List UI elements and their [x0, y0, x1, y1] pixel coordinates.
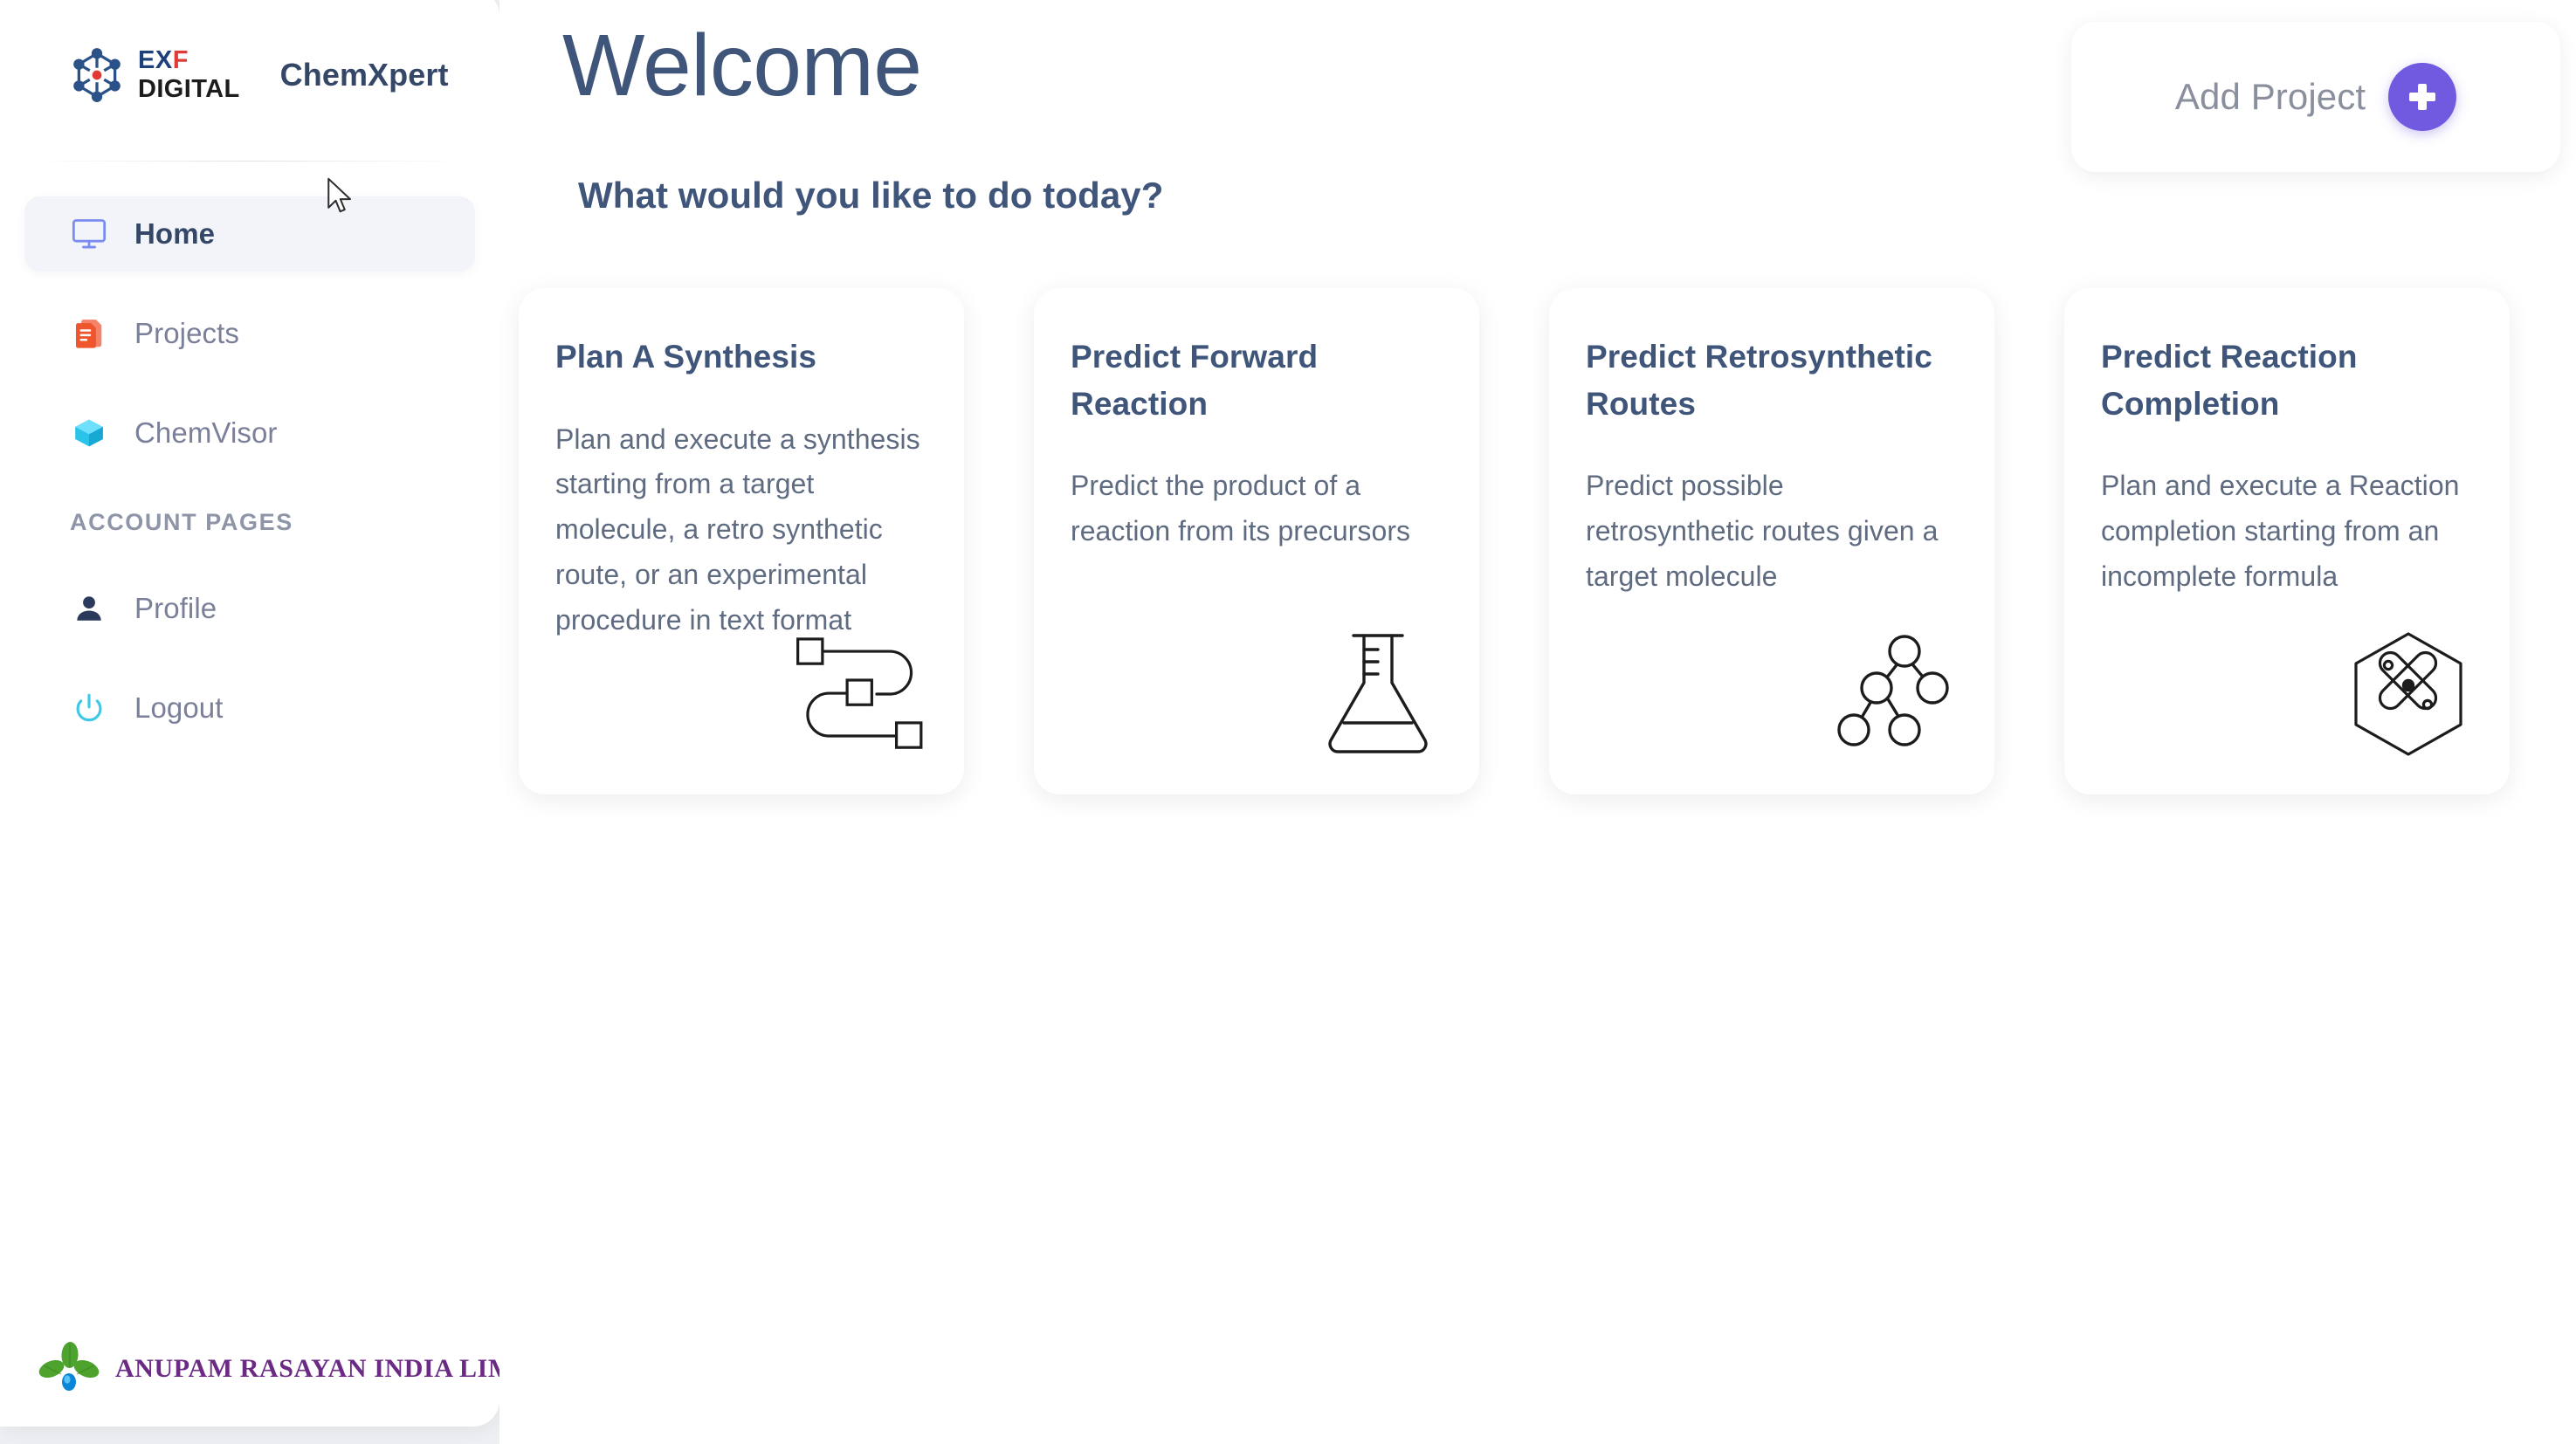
card-predict-reaction-completion[interactable]: Predict Reaction Completion Plan and exe…: [2064, 288, 2510, 794]
cube-3d-icon: [70, 414, 108, 452]
card-title: Plan A Synthesis: [555, 333, 927, 381]
sidebar-item-profile-label: Profile: [134, 592, 217, 625]
plus-icon: [2407, 82, 2437, 112]
brand-logo-top-text: EX: [138, 46, 173, 74]
card-title: Predict Forward Reaction: [1071, 333, 1443, 427]
brand-logo-bottom-text: DIGITAL: [138, 77, 240, 102]
brand-header[interactable]: EXF DIGITAL ChemXpert: [0, 0, 499, 161]
footer-company-name: ANUPAM RASAYAN INDIA LIMITED: [115, 1354, 499, 1384]
card-description: Predict the product of a reaction from i…: [1071, 464, 1443, 554]
power-icon: [70, 689, 108, 727]
sidebar-item-logout-label: Logout: [134, 691, 224, 725]
app-title: ChemXpert: [280, 57, 449, 93]
monitor-icon: [70, 215, 108, 253]
add-project-label: Add Project: [2175, 76, 2366, 118]
person-icon: [70, 589, 108, 628]
sidebar-section-account-pages: ACCOUNT PAGES: [24, 509, 475, 536]
route-path-icon: [793, 629, 933, 760]
sidebar-item-home[interactable]: Home: [24, 196, 475, 272]
feature-card-row: Plan A Synthesis Plan and execute a synt…: [519, 288, 2576, 794]
node-tree-icon: [1823, 629, 1963, 760]
document-stack-icon: [70, 314, 108, 353]
card-description: Predict possible retrosynthetic routes g…: [1586, 464, 1958, 599]
add-project-fab[interactable]: [2388, 63, 2456, 131]
page-title: Welcome: [562, 17, 921, 113]
card-predict-retrosynthetic-routes[interactable]: Predict Retrosynthetic Routes Predict po…: [1549, 288, 1994, 794]
leaves-droplet-logo: [37, 1341, 101, 1397]
erlenmeyer-flask-icon: [1308, 629, 1448, 760]
sidebar-nav: Home Projects: [0, 162, 499, 746]
sidebar-item-logout[interactable]: Logout: [24, 670, 475, 746]
card-title: Predict Reaction Completion: [2101, 333, 2473, 427]
sidebar-item-chemvisor-label: ChemVisor: [134, 416, 278, 450]
brand-logo: EXF DIGITAL: [68, 46, 240, 104]
sidebar-item-profile[interactable]: Profile: [24, 571, 475, 646]
card-predict-forward-reaction[interactable]: Predict Forward Reaction Predict the pro…: [1034, 288, 1479, 794]
sidebar-item-home-label: Home: [134, 217, 215, 251]
brand-logo-accent-letter: F: [173, 46, 189, 74]
sidebar-item-projects[interactable]: Projects: [24, 296, 475, 371]
sidebar-item-projects-label: Projects: [134, 317, 239, 350]
main-content: Welcome What would you like to do today?…: [499, 0, 2576, 1444]
molecule-network-icon: [68, 46, 126, 104]
sidebar-item-chemvisor[interactable]: ChemVisor: [24, 395, 475, 471]
hexagon-molecule-icon: [2338, 629, 2478, 760]
add-project-button[interactable]: Add Project: [2071, 22, 2560, 172]
sidebar: EXF DIGITAL ChemXpert Home: [0, 0, 499, 1427]
card-title: Predict Retrosynthetic Routes: [1586, 333, 1958, 427]
card-plan-a-synthesis[interactable]: Plan A Synthesis Plan and execute a synt…: [519, 288, 964, 794]
page-subtitle: What would you like to do today?: [578, 175, 1164, 217]
card-description: Plan and execute a synthesis starting fr…: [555, 417, 927, 643]
card-description: Plan and execute a Reaction completion s…: [2101, 464, 2473, 599]
sidebar-footer: ANUPAM RASAYAN INDIA LIMITED: [0, 1341, 499, 1397]
app-root: EXF DIGITAL ChemXpert Home: [0, 0, 2576, 1444]
